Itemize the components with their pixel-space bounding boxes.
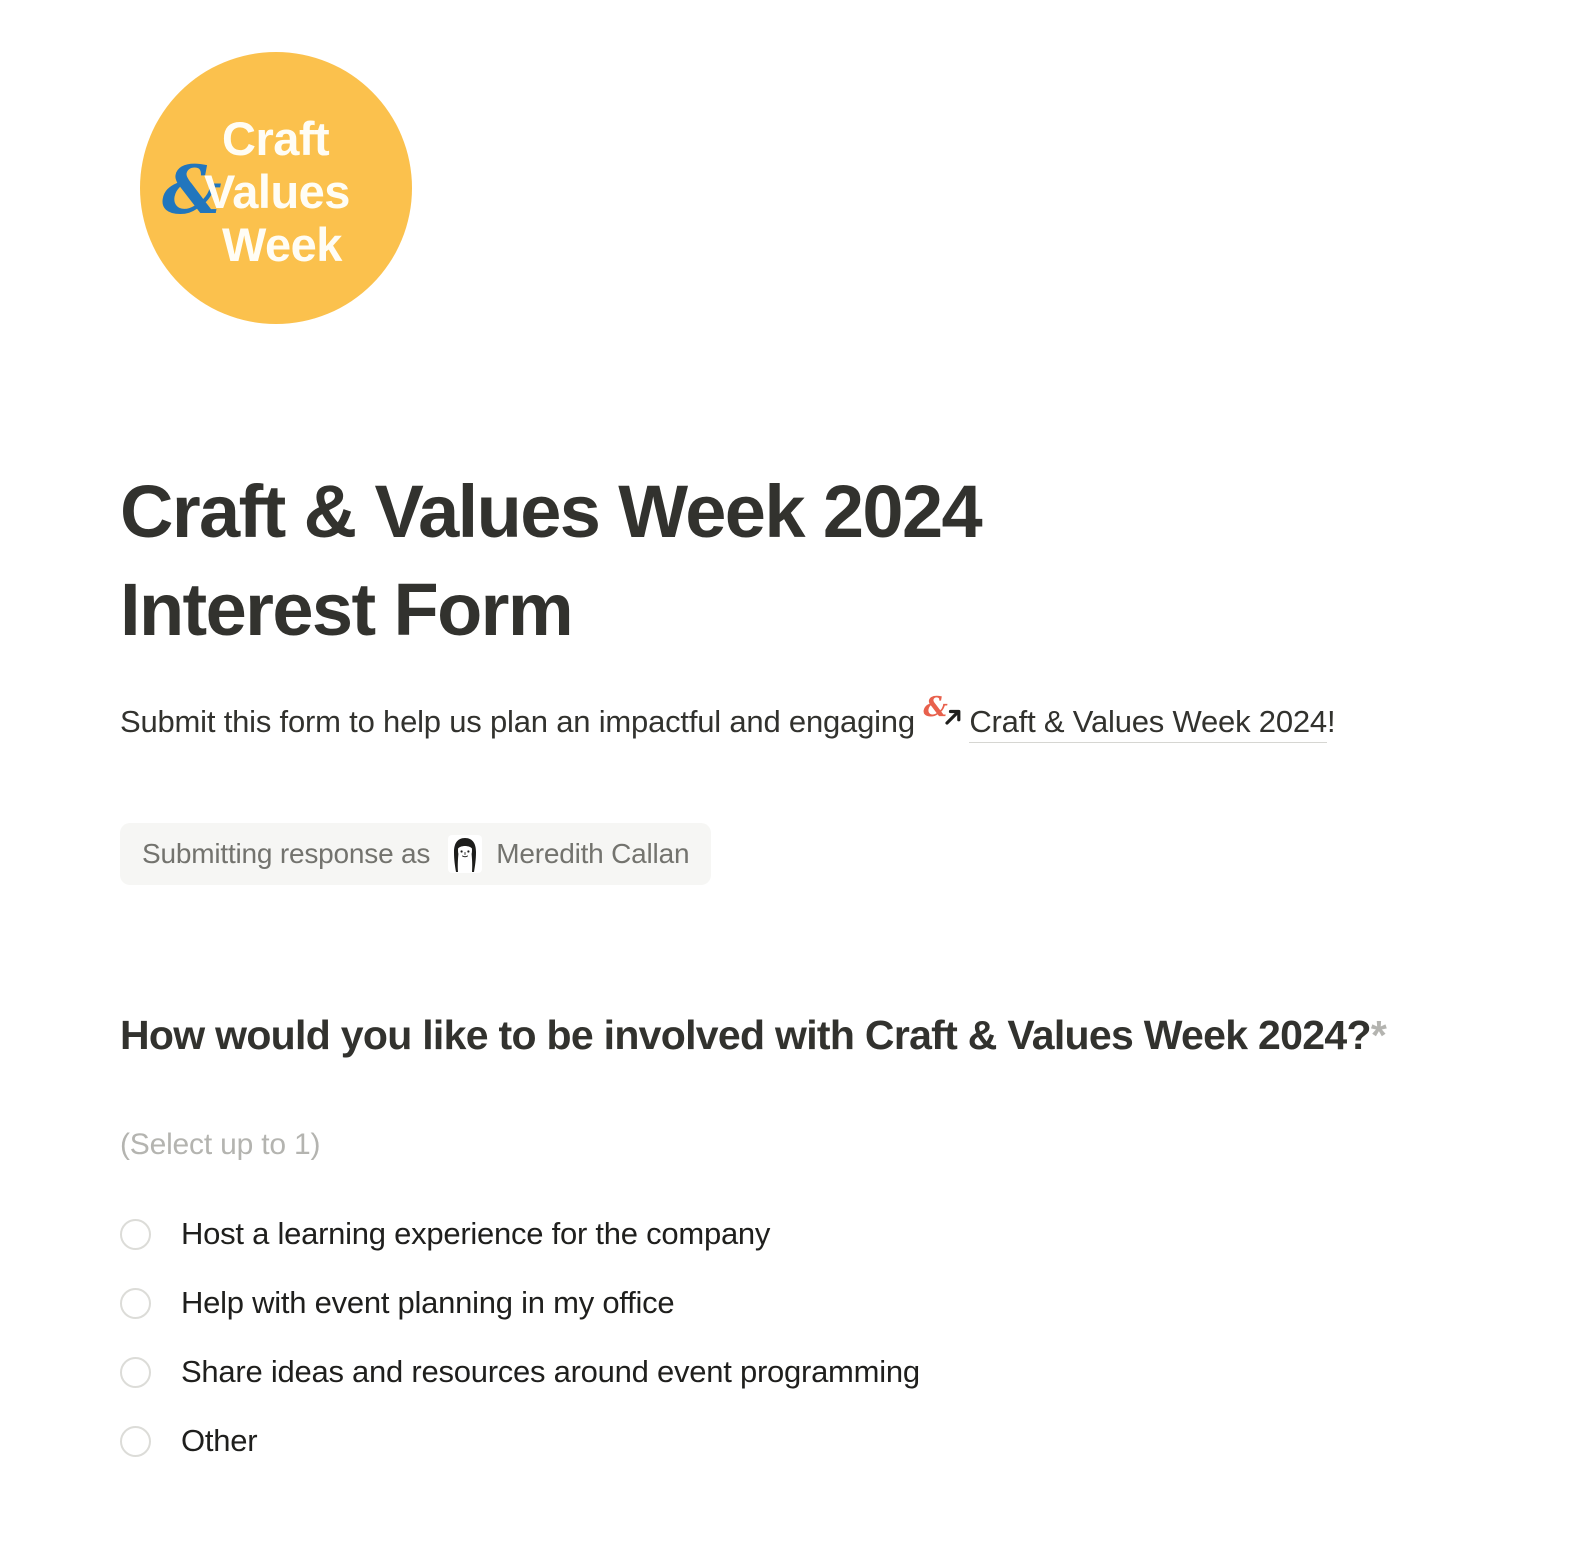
form-description: Submit this form to help us plan an impa…	[120, 696, 1370, 748]
option-row[interactable]: Help with event planning in my office	[120, 1277, 1320, 1329]
page-title-line-1: Craft & Values Week 2024	[120, 475, 1360, 549]
option-label: Help with event planning in my office	[181, 1285, 674, 1321]
submitting-response-as-chip: Submitting response as Mer	[120, 823, 711, 885]
option-label: Other	[181, 1423, 257, 1459]
option-label: Host a learning experience for the compa…	[181, 1216, 770, 1252]
logo-text: & Craft Values Week	[140, 52, 412, 324]
submitting-response-as-user: Meredith Callan	[496, 838, 689, 870]
required-asterisk: *	[1371, 1012, 1386, 1058]
option-row[interactable]: Share ideas and resources around event p…	[120, 1346, 1320, 1398]
logo-line-week: Week	[222, 218, 342, 271]
page-title: Craft & Values Week 2024 Interest Form	[120, 475, 1360, 647]
form-description-text: Submit this form to help us plan an impa…	[120, 704, 923, 739]
form-page: & Craft Values Week Craft & Values Week …	[0, 0, 1586, 1548]
craft-values-week-logo: & Craft Values Week	[140, 52, 412, 324]
radio-button-icon[interactable]	[120, 1288, 151, 1319]
craft-values-week-link[interactable]: Craft & Values Week 2024	[969, 704, 1327, 743]
logo-line-values: Values	[204, 165, 350, 218]
link-icon-group: &	[923, 709, 967, 735]
question-text: How would you like to be involved with C…	[120, 1012, 1371, 1058]
radio-button-icon[interactable]	[120, 1426, 151, 1457]
question-options-list: Host a learning experience for the compa…	[120, 1208, 1320, 1484]
option-row[interactable]: Other	[120, 1415, 1320, 1467]
radio-button-icon[interactable]	[120, 1219, 151, 1250]
question-title: How would you like to be involved with C…	[120, 1009, 1450, 1062]
option-row[interactable]: Host a learning experience for the compa…	[120, 1208, 1320, 1260]
radio-button-icon[interactable]	[120, 1357, 151, 1388]
form-description-suffix: !	[1327, 704, 1335, 739]
submitting-response-as-label: Submitting response as	[142, 838, 430, 870]
page-title-line-2: Interest Form	[120, 573, 1360, 647]
avatar	[448, 835, 482, 873]
logo-line-craft: Craft	[222, 112, 329, 165]
arrow-up-right-icon	[941, 705, 965, 729]
question-help-text: (Select up to 1)	[120, 1128, 320, 1162]
option-label: Share ideas and resources around event p…	[181, 1354, 920, 1390]
